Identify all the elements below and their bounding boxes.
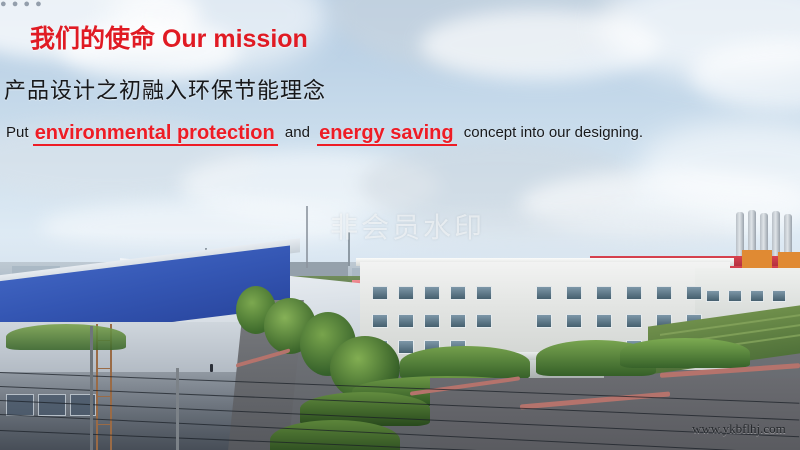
center-watermark: 非会员水印 — [330, 206, 485, 246]
office-window — [398, 286, 414, 300]
text-overlay: ● ● ● ● 我们的使命 Our mission 产品设计之初融入环保节能理念… — [0, 0, 800, 160]
tagline-highlight-environmental-protection: environmental protection — [33, 123, 278, 146]
office-window — [450, 286, 466, 300]
office-window — [596, 286, 612, 300]
office-window — [450, 314, 466, 328]
office-window — [372, 286, 388, 300]
office-window — [566, 314, 582, 328]
annex-window — [772, 290, 786, 302]
office-window — [626, 286, 642, 300]
annex-window — [728, 290, 742, 302]
warehouse-window — [38, 394, 66, 416]
warehouse-window — [6, 394, 34, 416]
office-window — [536, 286, 552, 300]
pedestrian — [210, 364, 213, 372]
office-window — [424, 286, 440, 300]
roof-ladder-rail — [96, 396, 112, 397]
office-window — [424, 314, 440, 328]
office-window — [536, 314, 552, 328]
subtitle-chinese: 产品设计之初融入环保节能理念 — [4, 73, 326, 105]
hedge-row — [620, 338, 750, 368]
office-window — [398, 340, 414, 354]
tagline-lead: Put — [6, 124, 29, 141]
main-road — [430, 378, 800, 450]
tagline: Put environmental protection and energy … — [6, 123, 643, 146]
utility-pole — [176, 368, 179, 450]
roof-ladder-rail — [96, 424, 112, 425]
cropped-top-text: ● ● ● ● — [0, 0, 88, 8]
office-window — [626, 314, 642, 328]
url-watermark: www.ykbflhj.com — [692, 421, 786, 437]
office-window — [372, 314, 388, 328]
office-window — [398, 314, 414, 328]
hedge-row — [400, 346, 530, 380]
office-window — [476, 286, 492, 300]
office-window — [566, 286, 582, 300]
tagline-trail: concept into our designing. — [461, 124, 643, 141]
office-window — [656, 286, 672, 300]
slide-canvas: ● ● ● ● 我们的使命 Our mission 产品设计之初融入环保节能理念… — [0, 0, 800, 450]
office-window — [596, 314, 612, 328]
roof-ladder-rail — [96, 368, 112, 369]
annex-window — [706, 290, 720, 302]
tagline-connector: and — [282, 124, 313, 141]
page-title: 我们的使命 Our mission — [30, 19, 308, 55]
silo — [784, 214, 792, 256]
tagline-highlight-energy-saving: energy saving — [317, 123, 457, 146]
utility-pole — [90, 326, 93, 450]
annex-window — [750, 290, 764, 302]
office-window — [476, 314, 492, 328]
flag-pole — [306, 206, 308, 268]
office-window — [686, 286, 702, 300]
silo — [772, 211, 780, 256]
hedge-row — [6, 324, 126, 350]
